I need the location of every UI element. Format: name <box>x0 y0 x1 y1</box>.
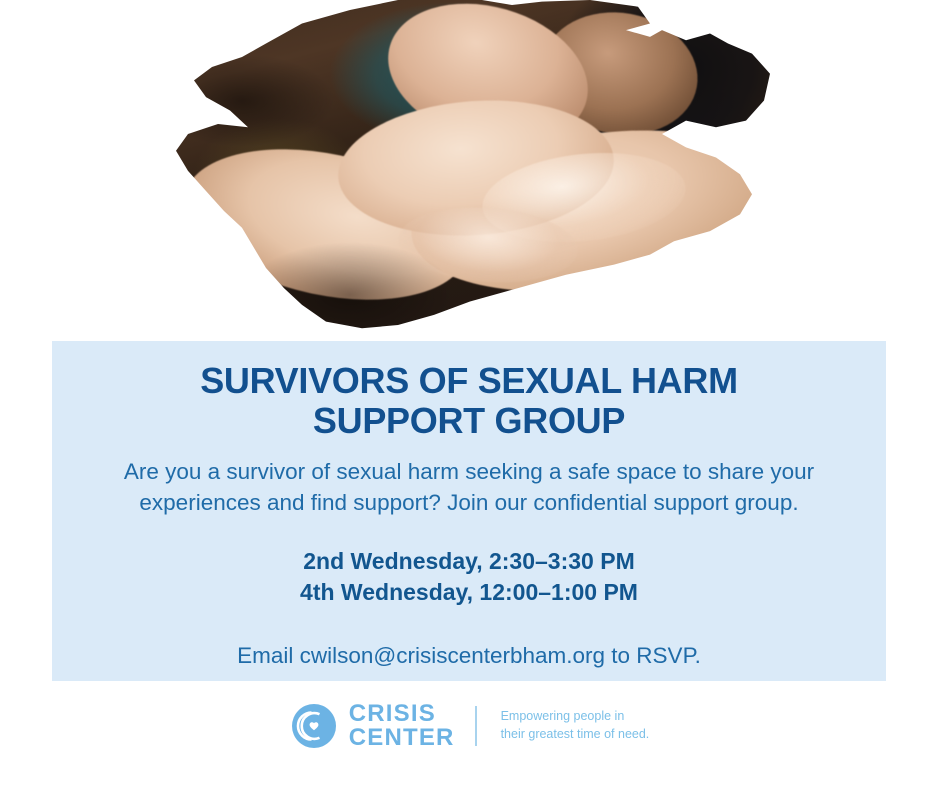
logo-wordmark-line-1: CRISIS <box>349 702 455 726</box>
content-panel: SURVIVORS OF SEXUAL HARM SUPPORT GROUP A… <box>52 341 886 681</box>
intro-paragraph-line-2: experiences and find support? Join our c… <box>74 487 864 518</box>
crisis-center-monogram-icon <box>291 703 337 749</box>
hero-photo <box>170 0 770 335</box>
logo-tagline-line-2: their greatest time of need. <box>501 726 650 744</box>
hero-photo-shading <box>170 0 770 335</box>
logo-divider <box>475 706 477 746</box>
meeting-schedule: 2nd Wednesday, 2:30–3:30 PM 4th Wednesda… <box>52 546 886 609</box>
crisis-center-logo: CRISIS CENTER Empowering people in their… <box>0 702 940 750</box>
meeting-schedule-line-1: 2nd Wednesday, 2:30–3:30 PM <box>52 546 886 578</box>
meeting-schedule-line-2: 4th Wednesday, 12:00–1:00 PM <box>52 577 886 609</box>
hero-photo-mask <box>170 0 770 335</box>
logo-wordmark: CRISIS CENTER <box>349 702 455 750</box>
page-title: SURVIVORS OF SEXUAL HARM SUPPORT GROUP <box>52 341 886 442</box>
rsvp-contact: Email cwilson@crisiscenterbham.org to RS… <box>52 641 886 670</box>
page-title-line-1: SURVIVORS OF SEXUAL HARM <box>52 361 886 401</box>
intro-paragraph: Are you a survivor of sexual harm seekin… <box>74 456 864 518</box>
logo-wordmark-line-2: CENTER <box>349 726 455 750</box>
intro-paragraph-line-1: Are you a survivor of sexual harm seekin… <box>74 456 864 487</box>
page-title-line-2: SUPPORT GROUP <box>52 401 886 441</box>
logo-tagline: Empowering people in their greatest time… <box>501 708 650 744</box>
logo-tagline-line-1: Empowering people in <box>501 708 650 726</box>
